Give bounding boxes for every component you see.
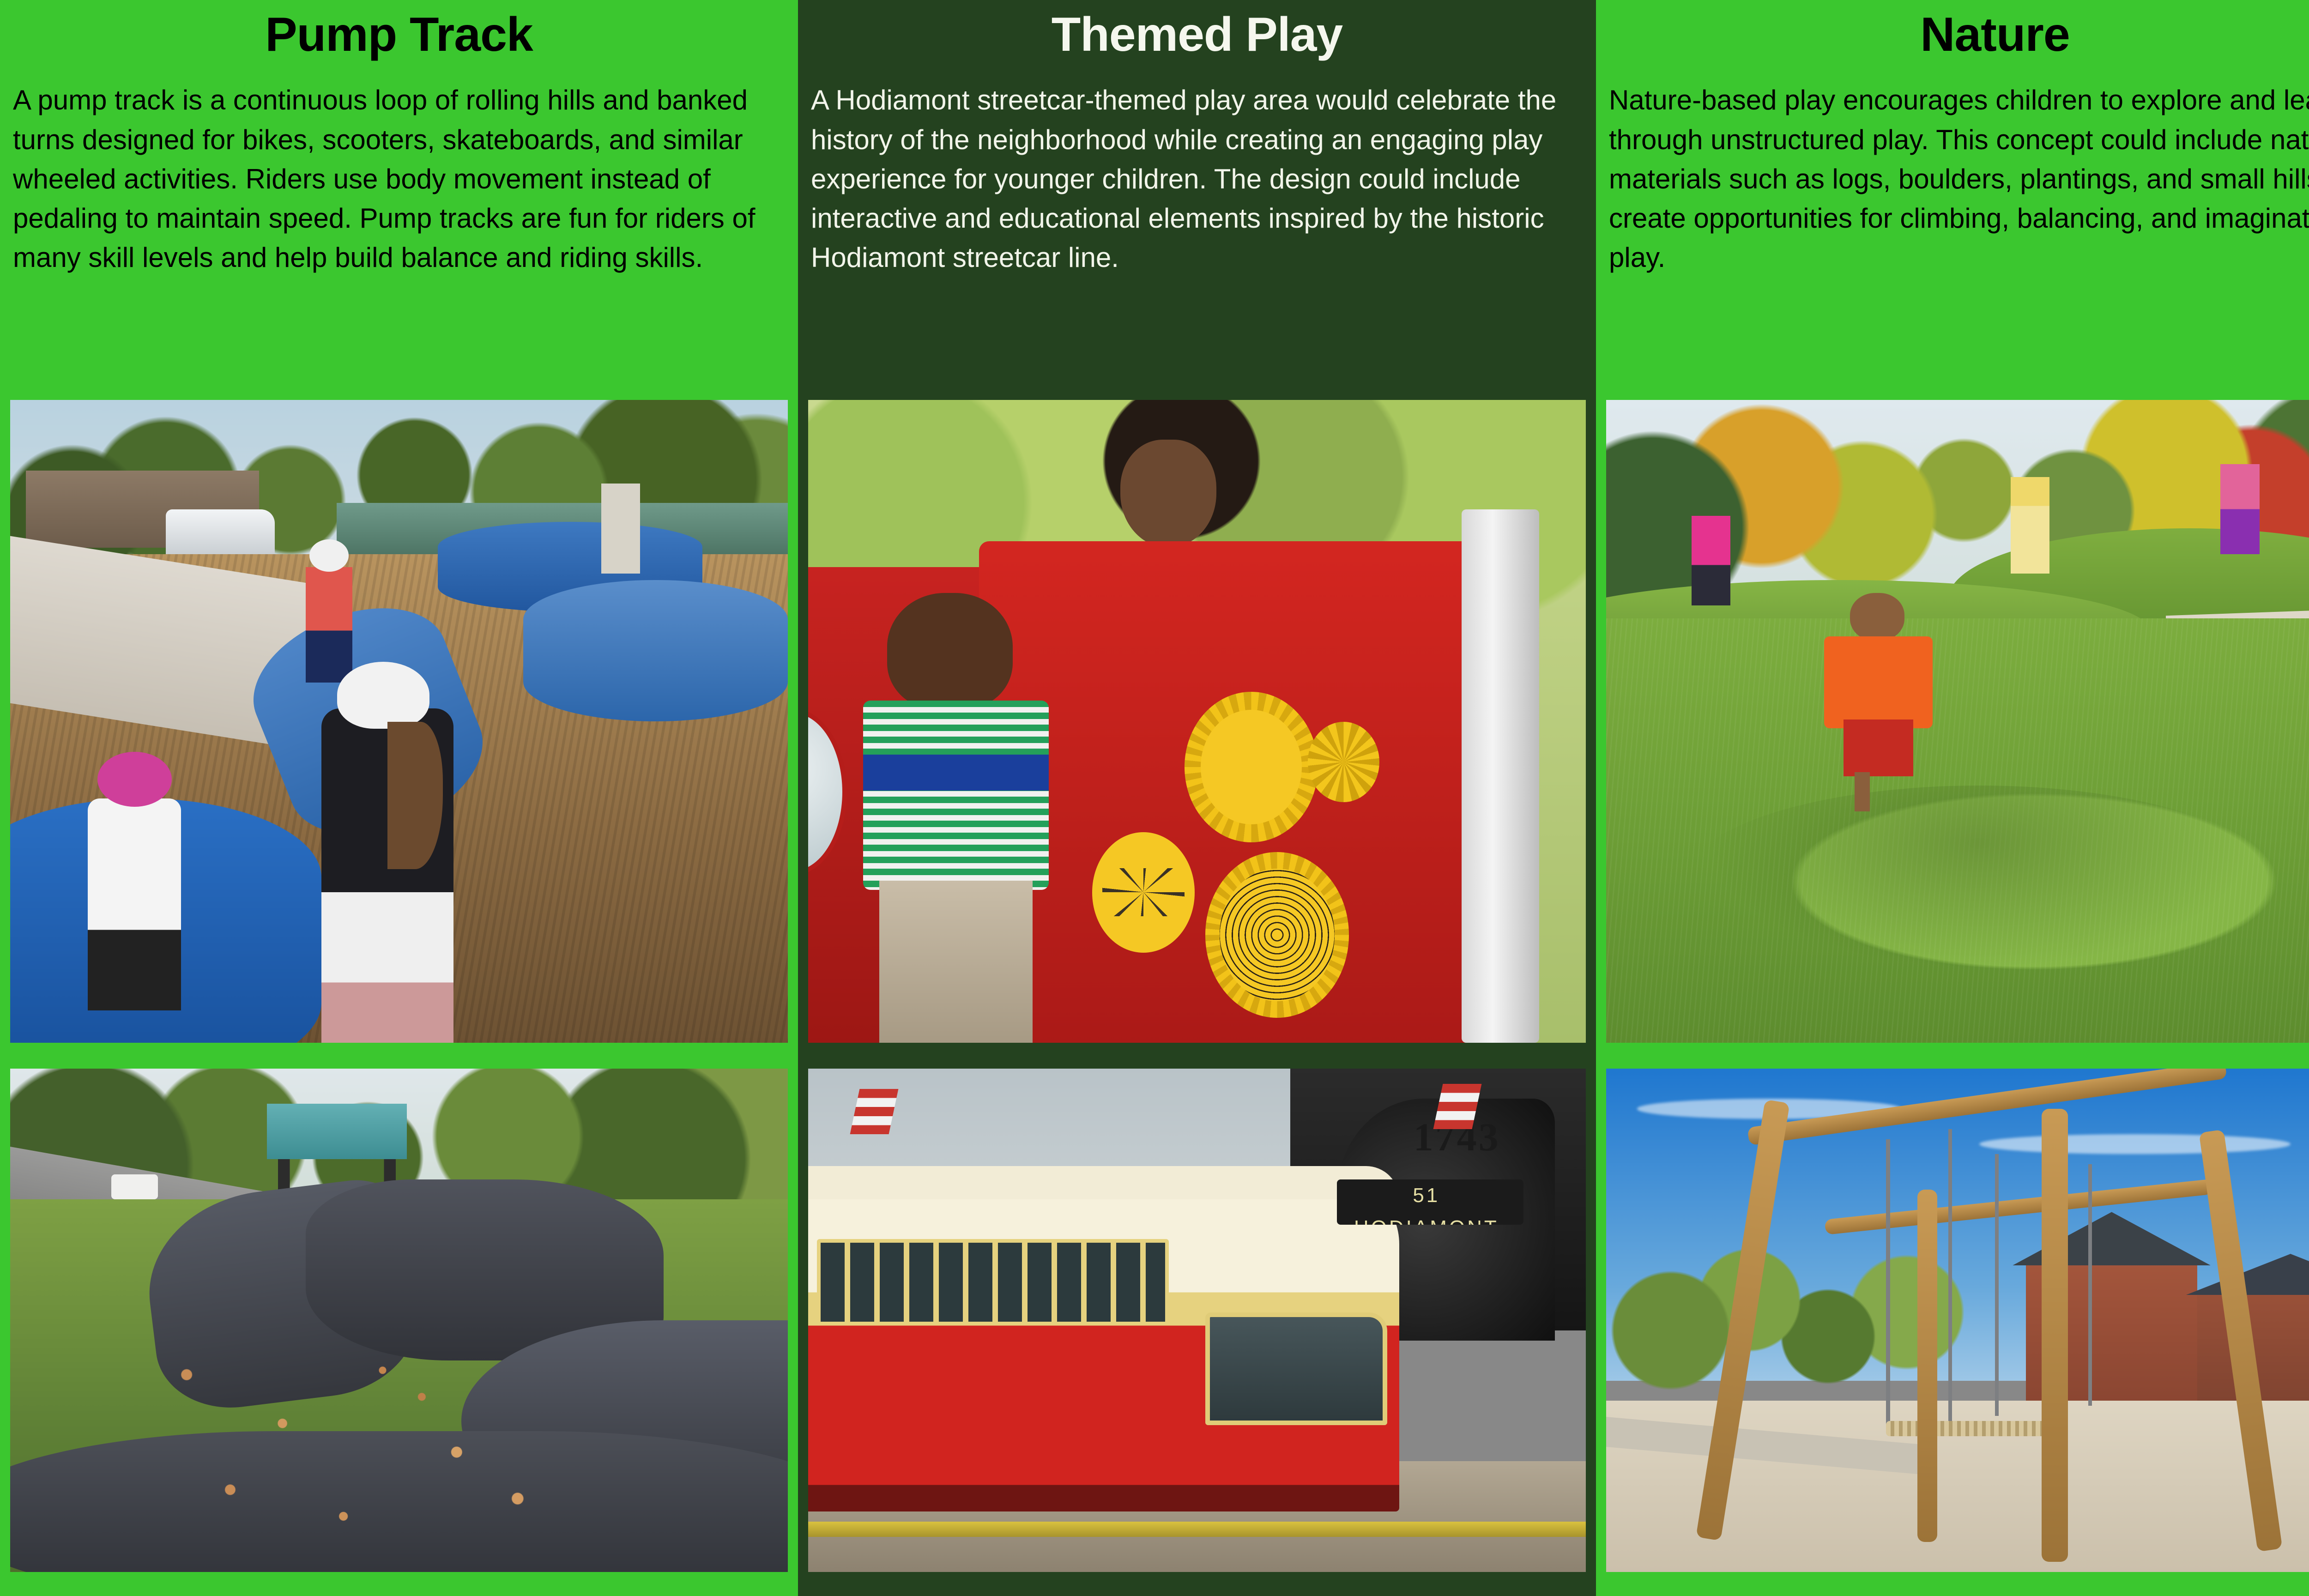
description-pump-track: A pump track is a continuous loop of rol…	[10, 61, 788, 277]
concept-board: Pump Track A pump track is a continuous …	[0, 0, 2309, 1596]
timber-swing-frame-photo	[1606, 1069, 2309, 1572]
column-themed-play: Themed Play A Hodiamont streetcar-themed…	[798, 0, 1596, 1596]
gear-panel-play-photo	[808, 400, 1586, 1043]
grass-mounds-photo	[1606, 400, 2309, 1043]
photo-stack-pump-track	[10, 400, 788, 1572]
streetcar-destination-sign: 51 HODIAMONT	[1337, 1179, 1516, 1225]
column-pump-track: Pump Track A pump track is a continuous …	[0, 0, 798, 1596]
page-title-pump-track: Pump Track	[10, 0, 788, 61]
pump-track-modular-photo	[10, 1069, 788, 1572]
page-title-themed-play: Themed Play	[808, 0, 1586, 61]
photo-stack-themed-play: 1743 51 HODIAMONT	[808, 400, 1586, 1572]
photo-stack-nature	[1606, 400, 2309, 1572]
page-title-nature: Nature	[1606, 0, 2309, 61]
hodiamont-streetcar-photo: 1743 51 HODIAMONT	[808, 1069, 1586, 1572]
description-themed-play: A Hodiamont streetcar-themed play area w…	[808, 61, 1586, 277]
column-nature: Nature Nature-based play encourages chil…	[1596, 0, 2309, 1596]
pump-track-riders-photo	[10, 400, 788, 1043]
description-nature: Nature-based play encourages children to…	[1606, 61, 2309, 277]
